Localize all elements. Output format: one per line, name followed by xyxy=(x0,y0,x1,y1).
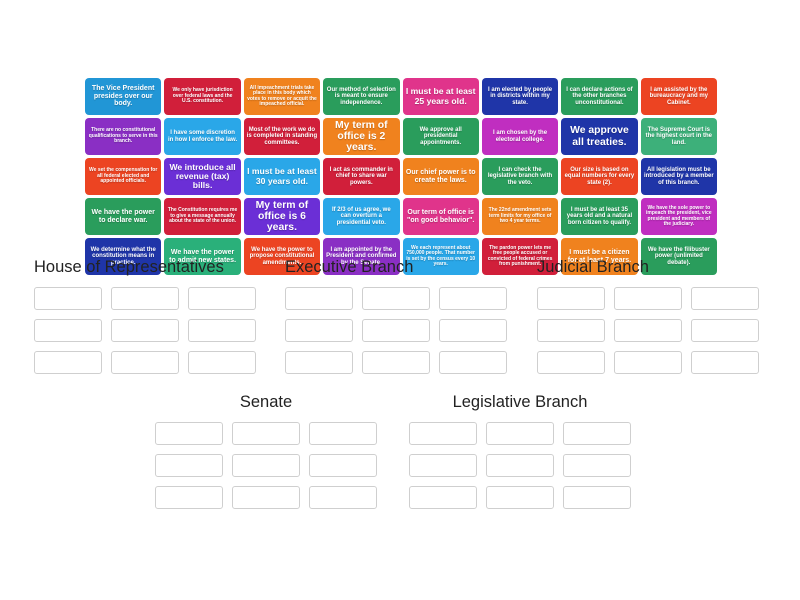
draggable-tile[interactable]: I can declare actions of the other branc… xyxy=(561,78,637,115)
draggable-tile[interactable]: Most of the work we do is completed in s… xyxy=(244,118,320,155)
drop-slot[interactable] xyxy=(111,319,179,342)
drop-slot[interactable] xyxy=(486,486,554,509)
category-title: Judicial Branch xyxy=(537,258,759,277)
tile-label: My term of office is 6 years. xyxy=(247,200,317,234)
draggable-tile[interactable]: I have some discretion in how I enforce … xyxy=(164,118,240,155)
drop-slot[interactable] xyxy=(111,287,179,310)
drop-slot[interactable] xyxy=(232,422,300,445)
draggable-tile[interactable]: I am chosen by the electoral college. xyxy=(482,118,558,155)
draggable-tile[interactable]: We set the compensation for all federal … xyxy=(85,158,161,195)
draggable-tile[interactable]: Our chief power is to create the laws. xyxy=(403,158,479,195)
draggable-tile[interactable]: We have the power to declare war. xyxy=(85,198,161,235)
tile-label: I act as commander in chief to share war… xyxy=(326,167,396,186)
drop-slot[interactable] xyxy=(155,486,223,509)
tile-label: We introduce all revenue (tax) bills. xyxy=(167,163,237,191)
tile-label: I am elected by people in districts with… xyxy=(485,87,555,106)
tile-label: We only have jurisdiction over federal l… xyxy=(167,88,237,104)
drop-slot-row xyxy=(285,351,507,374)
draggable-tile[interactable]: I act as commander in chief to share war… xyxy=(323,158,399,195)
tile-label: I can check the legislative branch with … xyxy=(485,167,555,186)
drop-slot[interactable] xyxy=(563,454,631,477)
drop-slot[interactable] xyxy=(34,287,102,310)
category-title: Senate xyxy=(155,393,377,412)
draggable-tile[interactable]: We introduce all revenue (tax) bills. xyxy=(164,158,240,195)
draggable-tile[interactable]: I must be at least 25 years old. xyxy=(403,78,479,115)
tile-label: I must be at least 30 years old. xyxy=(247,167,317,186)
drop-slot-row xyxy=(155,454,377,477)
drop-slot-row xyxy=(34,351,256,374)
drop-slot-row xyxy=(155,486,377,509)
tile-label: The Vice President presides over our bod… xyxy=(88,85,158,108)
tile-label: All legislation must be introduced by a … xyxy=(644,167,714,186)
group-sort-activity: The Vice President presides over our bod… xyxy=(0,0,800,600)
tile-label: Our chief power is to create the laws. xyxy=(406,169,476,184)
tile-row: There are no constitutional qualificatio… xyxy=(85,118,717,155)
drop-slot[interactable] xyxy=(188,351,256,374)
drop-slot-grid xyxy=(34,287,256,374)
tile-label: My term of office is 2 years. xyxy=(326,120,396,154)
drop-slot-row xyxy=(34,319,256,342)
drop-slot[interactable] xyxy=(691,319,759,342)
drop-slot[interactable] xyxy=(111,351,179,374)
drop-slot-row xyxy=(409,486,631,509)
drop-slot[interactable] xyxy=(285,287,353,310)
draggable-tile[interactable]: We approve all treaties. xyxy=(561,118,637,155)
drop-slot[interactable] xyxy=(439,351,507,374)
category-title: Legislative Branch xyxy=(409,393,631,412)
draggable-tile[interactable]: We approve all presidential appointments… xyxy=(403,118,479,155)
drop-slot-row xyxy=(409,422,631,445)
drop-slot-row xyxy=(409,454,631,477)
drop-slot[interactable] xyxy=(155,422,223,445)
tile-label: I am assisted by the bureaucracy and my … xyxy=(644,87,714,106)
tile-label: Our term of office is "on good behavior"… xyxy=(406,209,476,224)
drop-slot[interactable] xyxy=(409,454,477,477)
drop-slot-grid xyxy=(537,287,759,374)
tile-row: We set the compensation for all federal … xyxy=(85,158,717,195)
drop-slot[interactable] xyxy=(439,319,507,342)
tile-label: There are no constitutional qualificatio… xyxy=(88,128,158,144)
tile-label: I can declare actions of the other branc… xyxy=(564,87,634,106)
drop-slot[interactable] xyxy=(309,486,377,509)
drop-slot[interactable] xyxy=(34,319,102,342)
drop-slot[interactable] xyxy=(309,454,377,477)
drop-slot[interactable] xyxy=(232,486,300,509)
drop-slot[interactable] xyxy=(285,351,353,374)
category-title: Executive Branch xyxy=(285,258,507,277)
drop-slot-row xyxy=(537,351,759,374)
drop-slot[interactable] xyxy=(232,454,300,477)
drop-slot[interactable] xyxy=(691,287,759,310)
category-title: House of Representatives xyxy=(34,258,256,277)
drop-slot[interactable] xyxy=(563,486,631,509)
drop-slot-row xyxy=(285,319,507,342)
tile-label: Our method of selection is meant to ensu… xyxy=(326,87,396,106)
draggable-tile[interactable]: My term of office is 6 years. xyxy=(244,198,320,235)
category-group-executive-branch: Executive Branch xyxy=(285,258,507,374)
category-group-judicial-branch: Judicial Branch xyxy=(537,258,759,374)
draggable-tile[interactable]: The Vice President presides over our bod… xyxy=(85,78,161,115)
drop-slot[interactable] xyxy=(188,287,256,310)
tile-label: We set the compensation for all federal … xyxy=(88,168,158,184)
tile-label: We have the power to declare war. xyxy=(88,209,158,224)
drop-slot[interactable] xyxy=(439,287,507,310)
draggable-tile[interactable]: All impeachment trials take place in thi… xyxy=(244,78,320,115)
tile-label: We approve all treaties. xyxy=(564,125,634,147)
draggable-tile[interactable]: All legislation must be introduced by a … xyxy=(641,158,717,195)
drop-slot[interactable] xyxy=(563,422,631,445)
category-group-senate: Senate xyxy=(155,393,377,509)
drop-slot-grid xyxy=(155,422,377,509)
draggable-tile[interactable]: My term of office is 2 years. xyxy=(323,118,399,155)
drop-slot[interactable] xyxy=(614,287,682,310)
tile-label: The Supreme Court is the highest court i… xyxy=(644,127,714,146)
draggable-tile[interactable]: The Constitution requires me to give a m… xyxy=(164,198,240,235)
drop-slot[interactable] xyxy=(362,319,430,342)
drop-slot[interactable] xyxy=(188,319,256,342)
drop-slot-grid xyxy=(409,422,631,509)
draggable-tile[interactable]: Our method of selection is meant to ensu… xyxy=(323,78,399,115)
draggable-tile[interactable]: Our size is based on equal numbers for e… xyxy=(561,158,637,195)
category-group-legislative-branch: Legislative Branch xyxy=(409,393,631,509)
draggable-tile[interactable]: The 22nd amendment sets term limits for … xyxy=(482,198,558,235)
drop-slot[interactable] xyxy=(155,454,223,477)
drop-slot[interactable] xyxy=(486,422,554,445)
tile-label: I must be at least 25 years old. xyxy=(406,87,476,106)
draggable-tile[interactable]: I am assisted by the bureaucracy and my … xyxy=(641,78,717,115)
draggable-tile[interactable]: I am elected by people in districts with… xyxy=(482,78,558,115)
drop-slot-row xyxy=(537,287,759,310)
drop-slot[interactable] xyxy=(486,454,554,477)
drop-slot[interactable] xyxy=(537,319,605,342)
drop-slot[interactable] xyxy=(285,319,353,342)
drop-slot[interactable] xyxy=(309,422,377,445)
tile-label: If 2/3 of us agree, we can overturn a pr… xyxy=(326,207,396,226)
drop-slot[interactable] xyxy=(614,319,682,342)
tile-label: We have the sole power to impeach the pr… xyxy=(644,206,714,228)
tile-label: Our size is based on equal numbers for e… xyxy=(564,167,634,186)
drop-slot[interactable] xyxy=(362,351,430,374)
tile-row: The Vice President presides over our bod… xyxy=(85,78,717,115)
tile-row: We have the power to declare war.The Con… xyxy=(85,198,717,235)
category-group-house-of-representatives: House of Representatives xyxy=(34,258,256,374)
tile-label: The 22nd amendment sets term limits for … xyxy=(485,208,555,224)
drop-slot[interactable] xyxy=(614,351,682,374)
drop-slot[interactable] xyxy=(34,351,102,374)
draggable-tile[interactable]: I must be at least 35 years old and a na… xyxy=(561,198,637,235)
drop-slot-row xyxy=(34,287,256,310)
drop-slot[interactable] xyxy=(409,486,477,509)
draggable-tile[interactable]: I can check the legislative branch with … xyxy=(482,158,558,195)
draggable-tile[interactable]: We have the sole power to impeach the pr… xyxy=(641,198,717,235)
drop-slot-row xyxy=(537,319,759,342)
drop-slot[interactable] xyxy=(691,351,759,374)
draggable-tile[interactable]: I must be at least 30 years old. xyxy=(244,158,320,195)
drop-slot-grid xyxy=(285,287,507,374)
draggable-tile[interactable]: We only have jurisdiction over federal l… xyxy=(164,78,240,115)
tile-label: All impeachment trials take place in thi… xyxy=(247,86,317,108)
draggable-tile[interactable]: If 2/3 of us agree, we can overturn a pr… xyxy=(323,198,399,235)
drop-slot[interactable] xyxy=(537,287,605,310)
draggable-tile[interactable]: The Supreme Court is the highest court i… xyxy=(641,118,717,155)
tile-label: I must be at least 35 years old and a na… xyxy=(564,207,634,226)
draggable-tile[interactable]: There are no constitutional qualificatio… xyxy=(85,118,161,155)
tile-label: The Constitution requires me to give a m… xyxy=(167,208,237,224)
draggable-tile[interactable]: Our term of office is "on good behavior"… xyxy=(403,198,479,235)
drop-slot[interactable] xyxy=(409,422,477,445)
tile-label: Most of the work we do is completed in s… xyxy=(247,127,317,146)
tile-label: I have some discretion in how I enforce … xyxy=(167,130,237,143)
drop-slot[interactable] xyxy=(362,287,430,310)
drop-slot-row xyxy=(285,287,507,310)
tile-label: We approve all presidential appointments… xyxy=(406,127,476,146)
drop-slot[interactable] xyxy=(537,351,605,374)
tile-label: I am chosen by the electoral college. xyxy=(485,130,555,143)
drop-slot-row xyxy=(155,422,377,445)
tile-bank: The Vice President presides over our bod… xyxy=(85,78,717,278)
